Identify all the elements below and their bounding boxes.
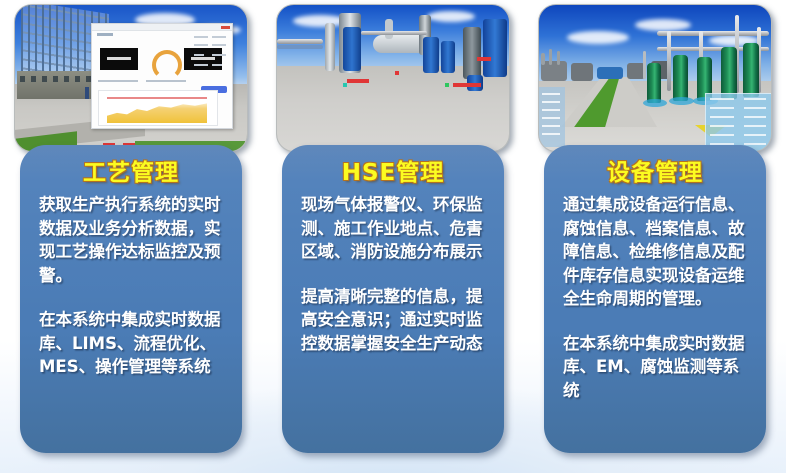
pipe-rack: [657, 31, 769, 36]
blue-vessel: [483, 19, 507, 77]
gauge-widget: [152, 50, 182, 80]
blue-vessel: [423, 37, 439, 73]
green-pump: [673, 55, 688, 101]
pipe-run: [361, 31, 427, 35]
card-thumbnail-equipment-management: [538, 4, 772, 152]
area-series: [107, 99, 207, 123]
green-pump: [743, 43, 759, 97]
card-paragraph: 在本系统中集成实时数据库、LIMS、流程优化、MES、操作管理等系统: [39, 308, 230, 379]
gas-detector-tag: [477, 57, 491, 61]
card-paragraph: 获取生产执行系统的实时数据及业务分析数据，实现工艺操作达标监控及预警。: [39, 193, 230, 287]
blue-vessel: [343, 27, 361, 71]
filter-row: [98, 80, 216, 88]
stack: [549, 49, 552, 65]
column-tower: [325, 23, 335, 71]
feature-card-process-management[interactable]: 工艺管理 获取生产执行系统的实时数据及业务分析数据，实现工艺操作达标监控及预警。…: [14, 4, 248, 453]
stack: [643, 51, 646, 79]
dark-vessel: [463, 27, 481, 79]
card-title: 工艺管理: [20, 153, 242, 187]
feature-card-deck: 工艺管理 获取生产执行系统的实时数据及业务分析数据，实现工艺操作达标监控及预警。…: [0, 0, 786, 473]
cloud-shape: [635, 19, 691, 31]
left-info-panel: [539, 87, 565, 147]
stack: [385, 19, 393, 39]
card-text-panel-hse-management: HSE管理 现场气体报警仪、环保监测、施工作业地点、危害区域、消防设施分布展示 …: [282, 145, 504, 453]
window-titlebar: [92, 24, 232, 31]
card-paragraph: 提高清晰完整的信息，提高安全意识；通过实时监控数据掌握安全生产动态: [301, 285, 492, 356]
card-text-panel-process-management: 工艺管理 获取生产执行系统的实时数据及业务分析数据，实现工艺操作达标监控及预警。…: [20, 145, 242, 453]
card-body: 现场气体报警仪、环保监测、施工作业地点、危害区域、消防设施分布展示 提高清晰完整…: [301, 193, 492, 355]
threshold-line: [107, 97, 207, 99]
distant-building: [597, 67, 623, 79]
feature-card-hse-management[interactable]: HSE管理 现场气体报警仪、环保监测、施工作业地点、危害区域、消防设施分布展示 …: [276, 4, 510, 453]
card-thumbnail-process-management: [14, 4, 248, 152]
cloud-shape: [427, 11, 475, 22]
status-dot: [343, 83, 347, 87]
card-paragraph: 在本系统中集成实时数据库、EM、腐蚀监测等系统: [563, 332, 754, 403]
card-paragraph: 通过集成设备运行信息、腐蚀信息、档案信息、故障信息、检维修信息及配件库存信息实现…: [563, 193, 754, 311]
feature-card-equipment-management[interactable]: 设备管理 通过集成设备运行信息、腐蚀信息、档案信息、故障信息、检维修信息及配件库…: [538, 4, 772, 453]
equipment-data-panel: [705, 93, 771, 151]
status-dot: [395, 71, 399, 75]
card-body: 通过集成设备运行信息、腐蚀信息、档案信息、故障信息、检维修信息及配件库存信息实现…: [563, 193, 754, 402]
card-body: 获取生产执行系统的实时数据及业务分析数据，实现工艺操作达标监控及预警。 在本系统…: [39, 193, 230, 379]
green-pump: [647, 63, 661, 103]
distant-building: [571, 63, 593, 81]
gas-detector-tag: [453, 83, 481, 87]
mini-charts-group: [194, 34, 228, 80]
scene-plant-3d-green-pumps: [539, 5, 771, 151]
gas-detector-tag: [347, 79, 369, 83]
pipe-rack: [277, 39, 323, 44]
pipe-rack: [277, 45, 323, 49]
card-paragraph: 现场气体报警仪、环保监测、施工作业地点、危害区域、消防设施分布展示: [301, 193, 492, 264]
green-pump: [721, 47, 737, 99]
card-text-panel-equipment-management: 设备管理 通过集成设备运行信息、腐蚀信息、档案信息、故障信息、检维修信息及配件库…: [544, 145, 766, 453]
paragraph-spacer: [39, 287, 230, 308]
pump-base-marker: [669, 97, 694, 105]
paragraph-spacer: [301, 264, 492, 285]
scene-plant-3d-with-dashboard: [15, 5, 247, 151]
area-chart-widget: [98, 90, 218, 126]
status-dot: [445, 83, 449, 87]
panel-heading-placeholder: [97, 33, 113, 36]
worker-figure: [85, 87, 89, 99]
card-title: HSE管理: [282, 153, 504, 187]
dashboard-window: [91, 23, 233, 129]
card-thumbnail-hse-management: [276, 4, 510, 152]
blue-vessel: [441, 41, 455, 73]
scene-refinery-3d: [277, 5, 509, 151]
paragraph-spacer: [563, 311, 754, 332]
distant-building: [541, 61, 567, 81]
pump-base-marker: [643, 99, 667, 107]
card-title: 设备管理: [544, 153, 766, 187]
stack: [541, 53, 545, 65]
cloud-shape: [567, 31, 629, 44]
stack: [557, 51, 560, 65]
pipe-riser: [667, 31, 671, 91]
kpi-tile: [100, 48, 138, 70]
